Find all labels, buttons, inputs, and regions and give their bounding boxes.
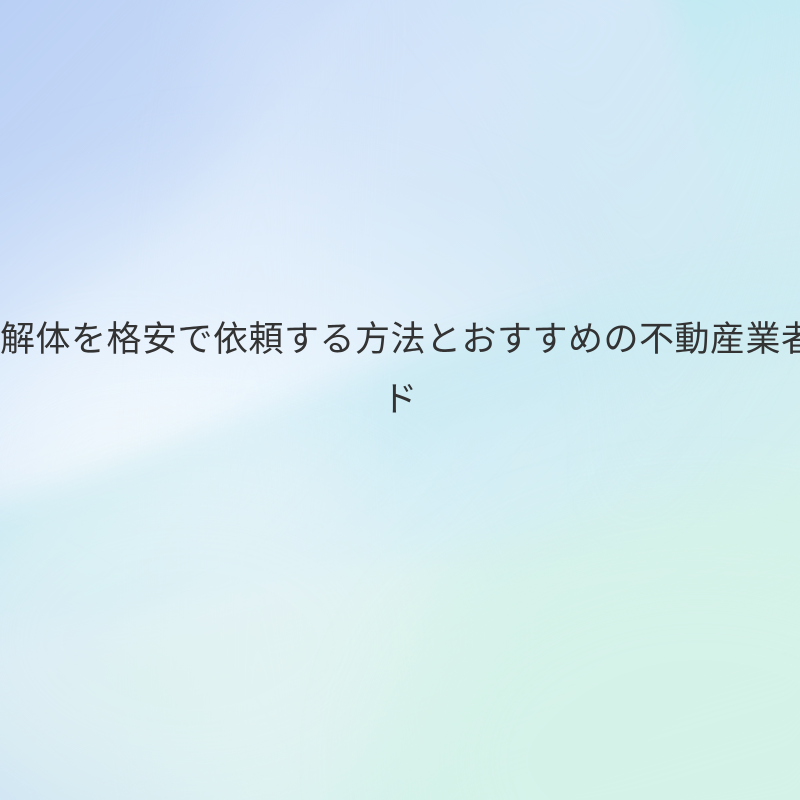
background-artwork — [0, 0, 800, 800]
hero-banner: 解体を格安で依頼する方法とおすすめの不動産業者ガイ ド — [0, 0, 800, 800]
